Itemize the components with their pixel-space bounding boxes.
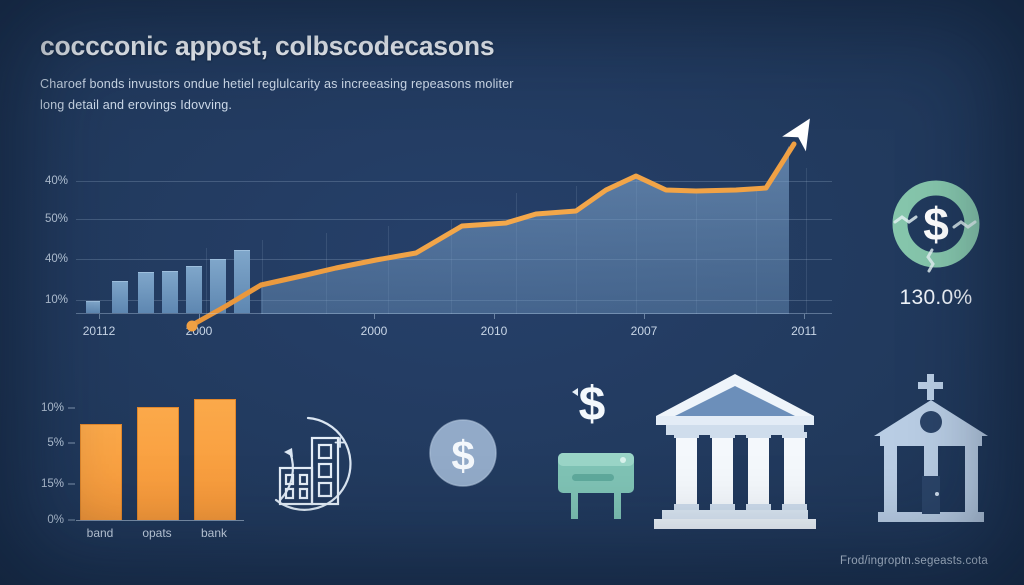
dollar-coin-icon: $ <box>424 414 502 497</box>
bottom-bar-chart: 10% 5% 15% 0% band opats bank <box>24 392 254 552</box>
trend-arrow-icon <box>782 111 822 151</box>
courthouse-church-icon <box>866 372 996 535</box>
main-y-tick-1: 50% <box>24 213 68 225</box>
main-x-axis <box>76 313 832 314</box>
building-cycle-svg <box>256 412 366 518</box>
bar-x-axis <box>76 520 244 521</box>
svg-text:$: $ <box>923 198 949 250</box>
header: coccconic appost, colbscodecasons Charoe… <box>40 32 600 115</box>
main-x-tick-0: 20112 <box>83 324 115 338</box>
server-desk-svg: $ <box>548 374 658 520</box>
infographic-canvas: coccconic appost, colbscodecasons Charoe… <box>0 0 1024 585</box>
bank-building-icon <box>652 368 818 537</box>
server-desk-icon: $ <box>548 374 658 525</box>
bar-band <box>80 424 122 520</box>
bar-y-tickmark-0 <box>68 408 75 409</box>
trend-line-svg <box>76 128 832 314</box>
main-x-tick-2: 2000 <box>361 324 388 338</box>
page-title: coccconic appost, colbscodecasons <box>40 32 600 61</box>
bar-x-label-1: opats <box>142 526 171 540</box>
trend-area-fill <box>261 146 789 314</box>
x-tickmark-2 <box>374 314 375 319</box>
bar-x-label-0: band <box>87 526 114 540</box>
bar-opats <box>137 407 179 520</box>
page-subtitle: Charoef bonds invustors ondue hetiel reg… <box>40 74 540 115</box>
kpi-block: $ 130.0% <box>876 172 996 310</box>
courthouse-church-svg <box>866 372 996 530</box>
x-tickmark-3 <box>494 314 495 319</box>
dollar-cycle-svg: $ <box>884 172 988 276</box>
building-cycle-icon <box>256 412 366 523</box>
main-y-tick-2: 40% <box>24 253 68 265</box>
svg-text:$: $ <box>451 432 474 479</box>
main-x-tick-3: 2010 <box>481 324 508 338</box>
bar-y-tick-2: 15% <box>24 478 64 490</box>
trend-start-dot <box>187 321 198 332</box>
bar-y-tick-3: 0% <box>24 514 64 526</box>
bar-y-tickmark-3 <box>68 520 75 521</box>
svg-text:$: $ <box>579 378 606 431</box>
main-y-tick-0: 40% <box>24 175 68 187</box>
main-y-tick-3: 10% <box>24 294 68 306</box>
dollar-coin-svg: $ <box>424 414 502 492</box>
bar-y-tickmark-1 <box>68 443 75 444</box>
main-plot-area <box>76 128 832 314</box>
bar-y-tick-0: 10% <box>24 402 64 414</box>
source-footer: Frod/ingroptn.segeasts.cota <box>840 555 988 567</box>
x-tickmark-4 <box>644 314 645 319</box>
bar-y-tickmark-2 <box>68 484 75 485</box>
x-tickmark-5 <box>804 314 805 319</box>
dollar-cycle-icon: $ <box>884 172 988 276</box>
kpi-value: 130.0% <box>876 286 996 310</box>
bar-bank <box>194 399 236 520</box>
bank-building-svg <box>652 368 818 532</box>
main-trend-chart: 40% 50% 40% 10% 20112 2000 2000 2010 200… <box>24 128 834 343</box>
bar-plot-area <box>80 398 240 520</box>
main-x-tick-5: 2011 <box>791 324 817 338</box>
bar-x-label-2: bank <box>201 526 227 540</box>
x-tickmark-0 <box>99 314 100 319</box>
main-x-tick-4: 2007 <box>631 324 658 338</box>
bar-y-tick-1: 5% <box>24 437 64 449</box>
x-tickmark-1 <box>199 314 200 319</box>
